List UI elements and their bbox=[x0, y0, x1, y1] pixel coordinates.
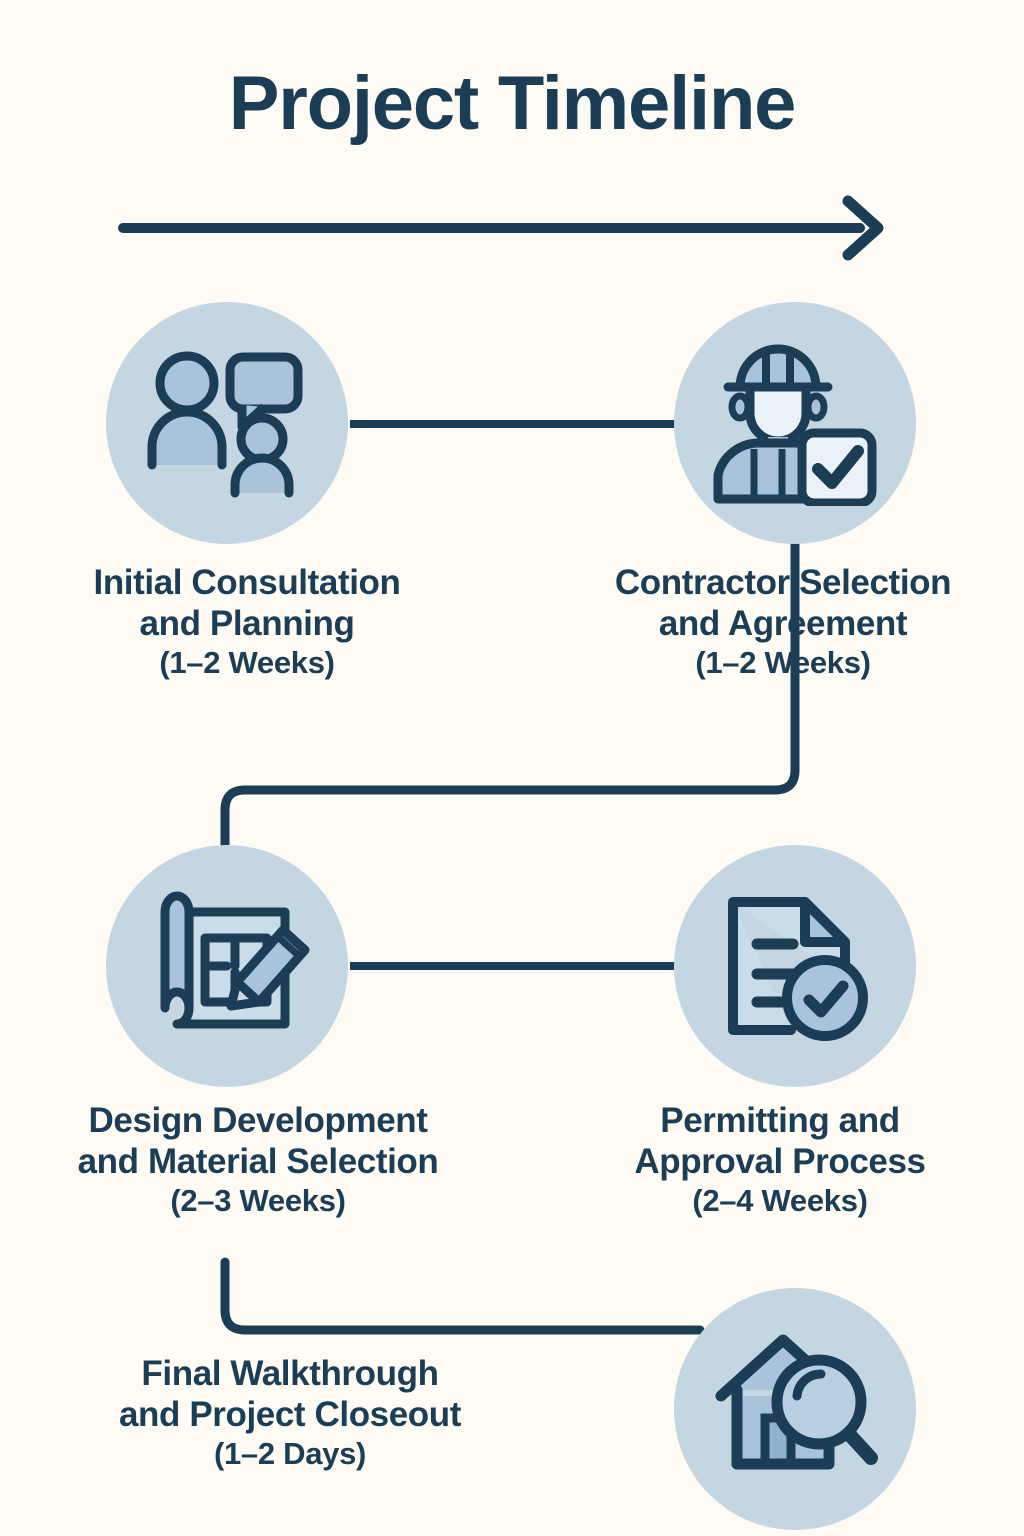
step-3-title-line2: and Material Selection bbox=[8, 1142, 508, 1183]
step-4-icon-circle[interactable] bbox=[674, 845, 916, 1087]
contractor-hardhat-clipboard-check-icon bbox=[710, 341, 880, 506]
step-1-title-line2: and Planning bbox=[12, 604, 482, 645]
step-3-duration: (2–3 Weeks) bbox=[8, 1183, 508, 1219]
house-magnifier-inspection-icon bbox=[711, 1330, 879, 1488]
step-2-icon-circle[interactable] bbox=[674, 302, 916, 544]
timeline-direction-arrow bbox=[110, 195, 900, 265]
step-3-title-line1: Design Development bbox=[8, 1101, 508, 1142]
consultation-people-speech-bubble-icon bbox=[142, 343, 312, 503]
document-approval-check-icon bbox=[715, 882, 875, 1050]
blueprint-pencil-icon bbox=[143, 886, 311, 1046]
step-2-label: Contractor Selection and Agreement (1–2 … bbox=[548, 563, 1018, 681]
page-title: Project Timeline bbox=[0, 64, 1024, 144]
step-4-label: Permitting and Approval Process (2–4 Wee… bbox=[560, 1101, 1000, 1219]
step-5-icon-circle[interactable] bbox=[674, 1288, 916, 1530]
step-5-title-line1: Final Walkthrough bbox=[40, 1354, 540, 1395]
step-1-icon-circle[interactable] bbox=[106, 302, 348, 544]
step-5-duration: (1–2 Days) bbox=[40, 1436, 540, 1472]
step-4-title-line1: Permitting and bbox=[560, 1101, 1000, 1142]
step-1-title-line1: Initial Consultation bbox=[12, 563, 482, 604]
step-5-label: Final Walkthrough and Project Closeout (… bbox=[40, 1354, 540, 1472]
step-3-icon-circle[interactable] bbox=[106, 845, 348, 1087]
step-2-duration: (1–2 Weeks) bbox=[548, 645, 1018, 681]
connector-step4-to-step5 bbox=[225, 1262, 700, 1330]
step-2-title-line1: Contractor Selection bbox=[548, 563, 1018, 604]
step-4-duration: (2–4 Weeks) bbox=[560, 1183, 1000, 1219]
step-4-title-line2: Approval Process bbox=[560, 1142, 1000, 1183]
step-5-title-line2: and Project Closeout bbox=[40, 1395, 540, 1436]
step-2-title-line2: and Agreement bbox=[548, 604, 1018, 645]
step-3-label: Design Development and Material Selectio… bbox=[8, 1101, 508, 1219]
step-1-label: Initial Consultation and Planning (1–2 W… bbox=[12, 563, 482, 681]
step-1-duration: (1–2 Weeks) bbox=[12, 645, 482, 681]
infographic-canvas: Project Timeline bbox=[0, 0, 1024, 1536]
